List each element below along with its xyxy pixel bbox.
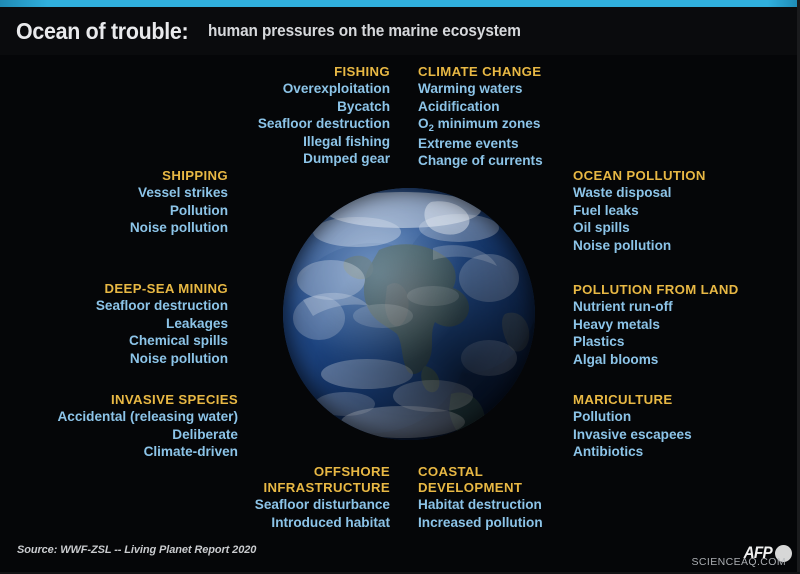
list-item: Pollution xyxy=(573,408,798,426)
page-title: Ocean of trouble: xyxy=(16,18,188,45)
list-item: Seafloor destruction xyxy=(0,297,228,315)
list-item: Fuel leaks xyxy=(573,202,798,220)
list-item: Algal blooms xyxy=(573,351,798,369)
top-accent-bar xyxy=(0,0,800,7)
block-heading-offshore-line1: OFFSHORE xyxy=(150,464,390,480)
list-item: Vessel strikes xyxy=(0,184,228,202)
list-item-o2-minimum-zones: O2 minimum zones xyxy=(418,115,648,135)
list-item: Acidification xyxy=(418,98,648,116)
list-item: Overexploitation xyxy=(150,80,390,98)
list-item: Invasive escapees xyxy=(573,426,798,444)
list-item: Bycatch xyxy=(150,98,390,116)
list-item: Plastics xyxy=(573,333,798,351)
block-heading-fishing: FISHING xyxy=(150,64,390,80)
list-item: Warming waters xyxy=(418,80,648,98)
list-item: Illegal fishing xyxy=(150,133,390,151)
label-block-pollution-from-land: POLLUTION FROM LAND Nutrient run-off Hea… xyxy=(573,282,798,368)
globe-clouds-icon xyxy=(283,188,535,440)
list-item: Waste disposal xyxy=(573,184,798,202)
list-item: Habitat destruction xyxy=(418,496,648,514)
label-block-mariculture: MARICULTURE Pollution Invasive escapees … xyxy=(573,392,798,461)
source-credit: Source: WWF-ZSL -- Living Planet Report … xyxy=(17,544,256,556)
label-block-offshore-infrastructure: OFFSHORE INFRASTRUCTURE Seafloor disturb… xyxy=(150,464,390,531)
block-heading-climate-change: CLIMATE CHANGE xyxy=(418,64,648,80)
list-item: Nutrient run-off xyxy=(573,298,798,316)
earth-globe xyxy=(283,188,535,440)
block-heading-shipping: SHIPPING xyxy=(0,168,228,184)
list-item: Dumped gear xyxy=(150,150,390,168)
label-block-fishing: FISHING Overexploitation Bycatch Seafloo… xyxy=(150,64,390,168)
list-item: Deliberate xyxy=(0,426,238,444)
block-heading-pollution-from-land: POLLUTION FROM LAND xyxy=(573,282,798,298)
infographic-root: Ocean of trouble: human pressures on the… xyxy=(0,0,800,574)
page-subtitle: human pressures on the marine ecosystem xyxy=(208,22,521,41)
label-block-coastal-development: COASTAL DEVELOPMENT Habitat destruction … xyxy=(418,464,648,531)
header-bar: Ocean of trouble: human pressures on the… xyxy=(0,7,800,55)
list-item: Antibiotics xyxy=(573,443,798,461)
label-block-shipping: SHIPPING Vessel strikes Pollution Noise … xyxy=(0,168,228,237)
list-item: Climate-driven xyxy=(0,443,238,461)
list-item: Pollution xyxy=(0,202,228,220)
list-item: Extreme events xyxy=(418,135,648,153)
block-heading-invasive-species: INVASIVE SPECIES xyxy=(0,392,238,408)
list-item: Oil spills xyxy=(573,219,798,237)
label-block-deep-sea-mining: DEEP-SEA MINING Seafloor destruction Lea… xyxy=(0,281,228,367)
block-heading-deep-sea-mining: DEEP-SEA MINING xyxy=(0,281,228,297)
block-heading-ocean-pollution: OCEAN POLLUTION xyxy=(573,168,798,184)
list-item: Accidental (releasing water) xyxy=(0,408,238,426)
list-item: Noise pollution xyxy=(0,219,228,237)
block-heading-coastal-line2: DEVELOPMENT xyxy=(418,480,648,496)
block-heading-offshore-line2: INFRASTRUCTURE xyxy=(150,480,390,496)
label-block-ocean-pollution: OCEAN POLLUTION Waste disposal Fuel leak… xyxy=(573,168,798,254)
site-watermark: SCIENCEAQ.COM xyxy=(692,556,786,568)
list-item: Noise pollution xyxy=(573,237,798,255)
list-item: Introduced habitat xyxy=(150,514,390,532)
block-heading-coastal-line1: COASTAL xyxy=(418,464,648,480)
globe-sphere xyxy=(283,188,535,440)
list-item: Heavy metals xyxy=(573,316,798,334)
list-item: Chemical spills xyxy=(0,332,228,350)
list-item: Noise pollution xyxy=(0,350,228,368)
label-block-climate-change: CLIMATE CHANGE Warming waters Acidificat… xyxy=(418,64,648,170)
list-item: Seafloor disturbance xyxy=(150,496,390,514)
block-heading-mariculture: MARICULTURE xyxy=(573,392,798,408)
list-item: Leakages xyxy=(0,315,228,333)
list-item: Seafloor destruction xyxy=(150,115,390,133)
label-block-invasive-species: INVASIVE SPECIES Accidental (releasing w… xyxy=(0,392,238,461)
list-item: Increased pollution xyxy=(418,514,648,532)
